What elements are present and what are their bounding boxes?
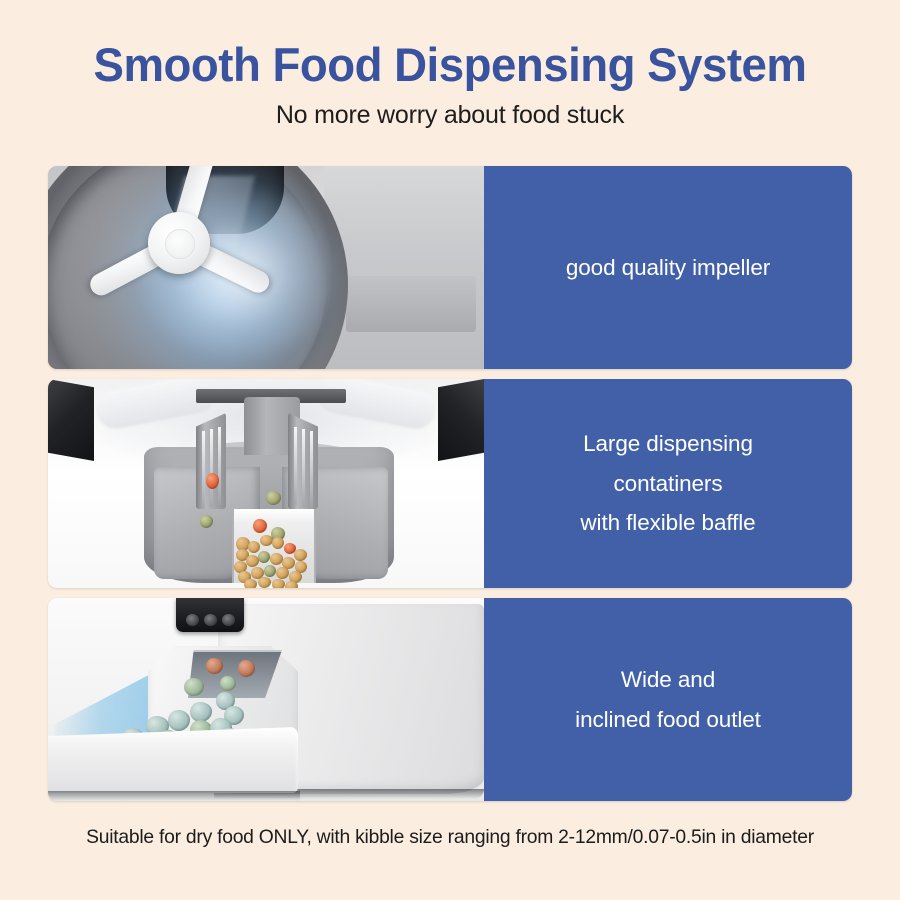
- feature-row: Wide and inclined food outlet: [48, 598, 852, 801]
- kibble-piece: [244, 579, 257, 588]
- footnote: Suitable for dry food ONLY, with kibble …: [5, 826, 896, 849]
- kibble-piece: [264, 565, 276, 577]
- kibble-piece: [258, 551, 270, 563]
- dispensing-container-photo: [48, 379, 484, 588]
- kibble-piece: [276, 567, 289, 579]
- kibble-piece: [258, 577, 271, 588]
- kibble-pile: [234, 527, 310, 587]
- header: Smooth Food Dispensing System No more wo…: [0, 40, 900, 130]
- food-outlet-photo: [48, 598, 484, 801]
- feature-row: good quality impeller: [48, 166, 852, 369]
- caption-line: Wide and: [498, 660, 838, 699]
- impeller-hub: [148, 212, 210, 274]
- kibble-piece: [260, 535, 273, 546]
- side-panel: [346, 276, 476, 332]
- baffle-rib: [302, 429, 305, 507]
- dark-corner-left: [48, 379, 94, 461]
- baffle-rib: [294, 427, 297, 505]
- baffle-rib: [210, 429, 213, 507]
- feature-caption: good quality impeller: [484, 166, 852, 369]
- baffle-rib: [218, 427, 221, 505]
- panel-button-icon: [204, 614, 217, 626]
- kibble-piece: [285, 581, 298, 588]
- baffle-rib: [310, 431, 313, 509]
- caption-line: good quality impeller: [498, 248, 838, 287]
- page-subtitle: No more worry about food stuck: [0, 101, 900, 130]
- impeller-photo: [48, 166, 484, 369]
- feature-rows: good quality impeller: [48, 166, 852, 811]
- kibble-piece: [248, 541, 260, 553]
- kibble-piece: [272, 537, 284, 549]
- feature-caption: Large dispensing contatiners with flexib…: [484, 379, 852, 588]
- product-infographic: Smooth Food Dispensing System No more wo…: [0, 0, 900, 900]
- panel-button-icon: [222, 614, 235, 626]
- kibble-piece: [272, 579, 285, 588]
- feature-row: Large dispensing contatiners with flexib…: [48, 379, 852, 588]
- caption-line: Large dispensing: [498, 424, 838, 463]
- page-title: Smooth Food Dispensing System: [14, 40, 887, 89]
- kibble-piece: [294, 549, 307, 561]
- dark-corner-right: [438, 379, 484, 461]
- food-bowl-tray: [48, 727, 298, 793]
- baffle-rib: [202, 431, 205, 509]
- feature-caption: Wide and inclined food outlet: [484, 598, 852, 801]
- caption-line: inclined food outlet: [498, 700, 838, 739]
- feeder-side-wall: [324, 166, 484, 369]
- tray-shadow: [48, 791, 300, 801]
- control-panel: [176, 598, 244, 632]
- caption-line: contatiners: [498, 464, 838, 503]
- panel-button-icon: [186, 614, 199, 626]
- caption-line: with flexible baffle: [498, 503, 838, 542]
